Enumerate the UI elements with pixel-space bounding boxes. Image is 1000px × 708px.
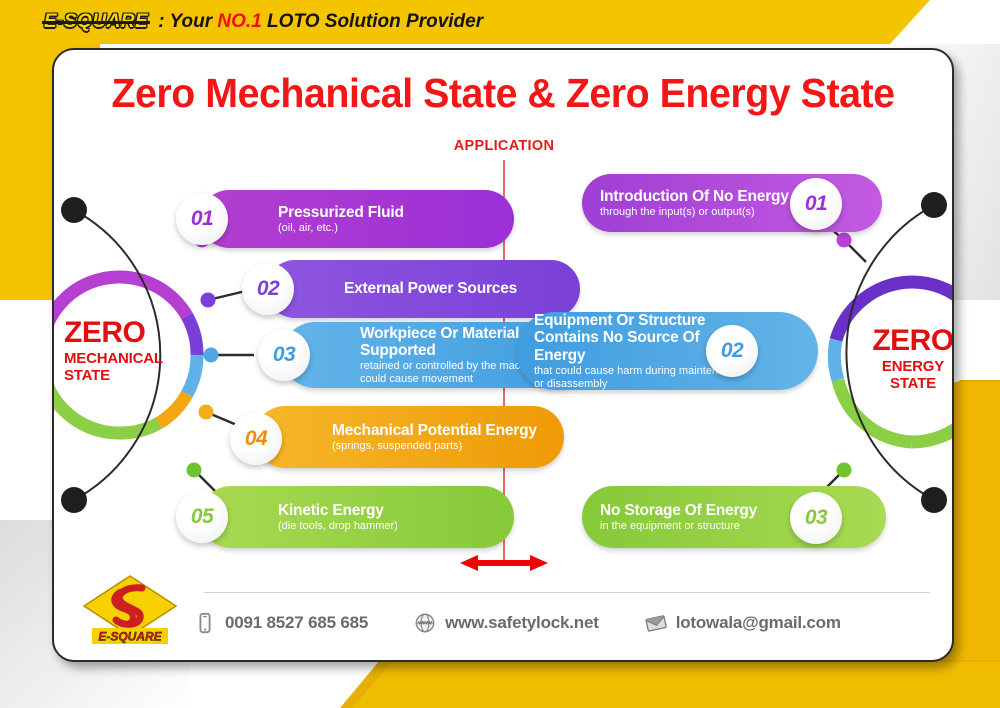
left-hub-label: ZERO MECHANICAL STATE [64, 317, 163, 384]
brand-logo: E-SQUARE [44, 11, 148, 33]
right-item-badge-01[interactable]: 01 [790, 178, 842, 230]
right-item-subtitle-03: in the equipment or structure [600, 520, 816, 533]
left-item-badge-02[interactable]: 02 [242, 263, 294, 315]
footer-contacts: 0091 8527 685 685 www www.safetylock.net [194, 612, 841, 634]
contact-phone-text: 0091 8527 685 685 [225, 613, 368, 633]
left-item-number-03: 03 [273, 343, 295, 367]
left-item-pill-02[interactable]: External Power Sources [266, 260, 580, 318]
left-item-badge-03[interactable]: 03 [258, 329, 310, 381]
contact-website[interactable]: www www.safetylock.net [414, 612, 599, 634]
left-item-title-04: Mechanical Potential Energy [332, 422, 550, 439]
footer-divider [204, 592, 930, 593]
left-node-dot-02 [201, 293, 216, 308]
left-item-badge-04[interactable]: 04 [230, 413, 282, 465]
right-item-number-02: 02 [721, 339, 743, 363]
svg-text:E-SQUARE: E-SQUARE [98, 630, 162, 644]
right-hub-line3: STATE [854, 376, 954, 392]
right-item-subtitle-01: through the input(s) or output(s) [600, 206, 812, 219]
contact-phone[interactable]: 0091 8527 685 685 [194, 612, 368, 634]
tagline-prefix: : Your [158, 11, 217, 32]
left-item-title-02: External Power Sources [344, 280, 566, 297]
left-hub-line1: ZERO [64, 317, 163, 349]
right-node-dot-01 [837, 233, 852, 248]
left-item-number-01: 01 [191, 207, 213, 231]
right-hub-line1: ZERO [854, 325, 954, 357]
left-hub-line3: STATE [64, 368, 163, 384]
right-hub-label: ZERO ENERGY STATE [854, 325, 954, 392]
header-bar: E-SQUARE : Your NO.1 LOTO Solution Provi… [0, 0, 1000, 44]
right-node-dot-03 [837, 463, 852, 478]
envelope-icon [645, 612, 667, 634]
footer-bar: E-SQUARE 0091 8527 685 685 www www.saf [54, 584, 952, 660]
header-tagline: : Your NO.1 LOTO Solution Provider [158, 11, 483, 33]
infographic-card: Zero Mechanical State & Zero Energy Stat… [52, 48, 954, 662]
left-item-number-05: 05 [191, 505, 213, 529]
globe-icon: www [414, 612, 436, 634]
contact-email-text: lotowala@gmail.com [676, 613, 841, 633]
left-hub-line2: MECHANICAL [64, 351, 163, 367]
svg-text:www: www [417, 620, 432, 626]
left-node-dot-05 [187, 463, 202, 478]
contact-email[interactable]: lotowala@gmail.com [645, 612, 841, 634]
tagline-suffix: LOTO Solution Provider [262, 11, 483, 32]
right-item-title-03: No Storage Of Energy [600, 502, 816, 519]
left-item-number-04: 04 [245, 427, 267, 451]
right-arc-endcap-top [921, 192, 947, 218]
left-item-pill-04[interactable]: Mechanical Potential Energy (springs, su… [254, 406, 564, 468]
right-item-number-03: 03 [805, 506, 827, 530]
right-arc-endcap-bottom [921, 487, 947, 513]
phone-icon [194, 612, 216, 634]
left-arc-endcap-top [61, 197, 87, 223]
left-item-pill-05[interactable]: Kinetic Energy (die tools, drop hammer) [200, 486, 514, 548]
left-item-number-02: 02 [257, 277, 279, 301]
left-item-subtitle-01: (oil, air, etc.) [278, 222, 500, 235]
right-hub-line2: ENERGY [854, 359, 954, 375]
tagline-highlight: NO.1 [217, 11, 261, 32]
left-item-subtitle-05: (die tools, drop hammer) [278, 520, 500, 533]
left-item-title-05: Kinetic Energy [278, 502, 500, 519]
left-item-badge-01[interactable]: 01 [176, 193, 228, 245]
left-arc-endcap-bottom [61, 487, 87, 513]
right-item-title-01: Introduction Of No Energy [600, 188, 812, 205]
left-node-dot-03 [204, 348, 219, 363]
left-item-subtitle-04: (springs, suspended parts) [332, 440, 550, 453]
right-item-pill-02[interactable]: Equipment Or Structure Contains No Sourc… [516, 312, 818, 390]
contact-website-text: www.safetylock.net [445, 613, 599, 633]
left-item-title-01: Pressurized Fluid [278, 204, 500, 221]
left-node-dot-04 [199, 405, 214, 420]
right-item-badge-03[interactable]: 03 [790, 492, 842, 544]
left-item-badge-05[interactable]: 05 [176, 491, 228, 543]
esquare-logo: E-SQUARE [80, 572, 188, 652]
left-item-pill-01[interactable]: Pressurized Fluid (oil, air, etc.) [200, 190, 514, 248]
right-item-badge-02[interactable]: 02 [706, 325, 758, 377]
right-item-number-01: 01 [805, 192, 827, 216]
